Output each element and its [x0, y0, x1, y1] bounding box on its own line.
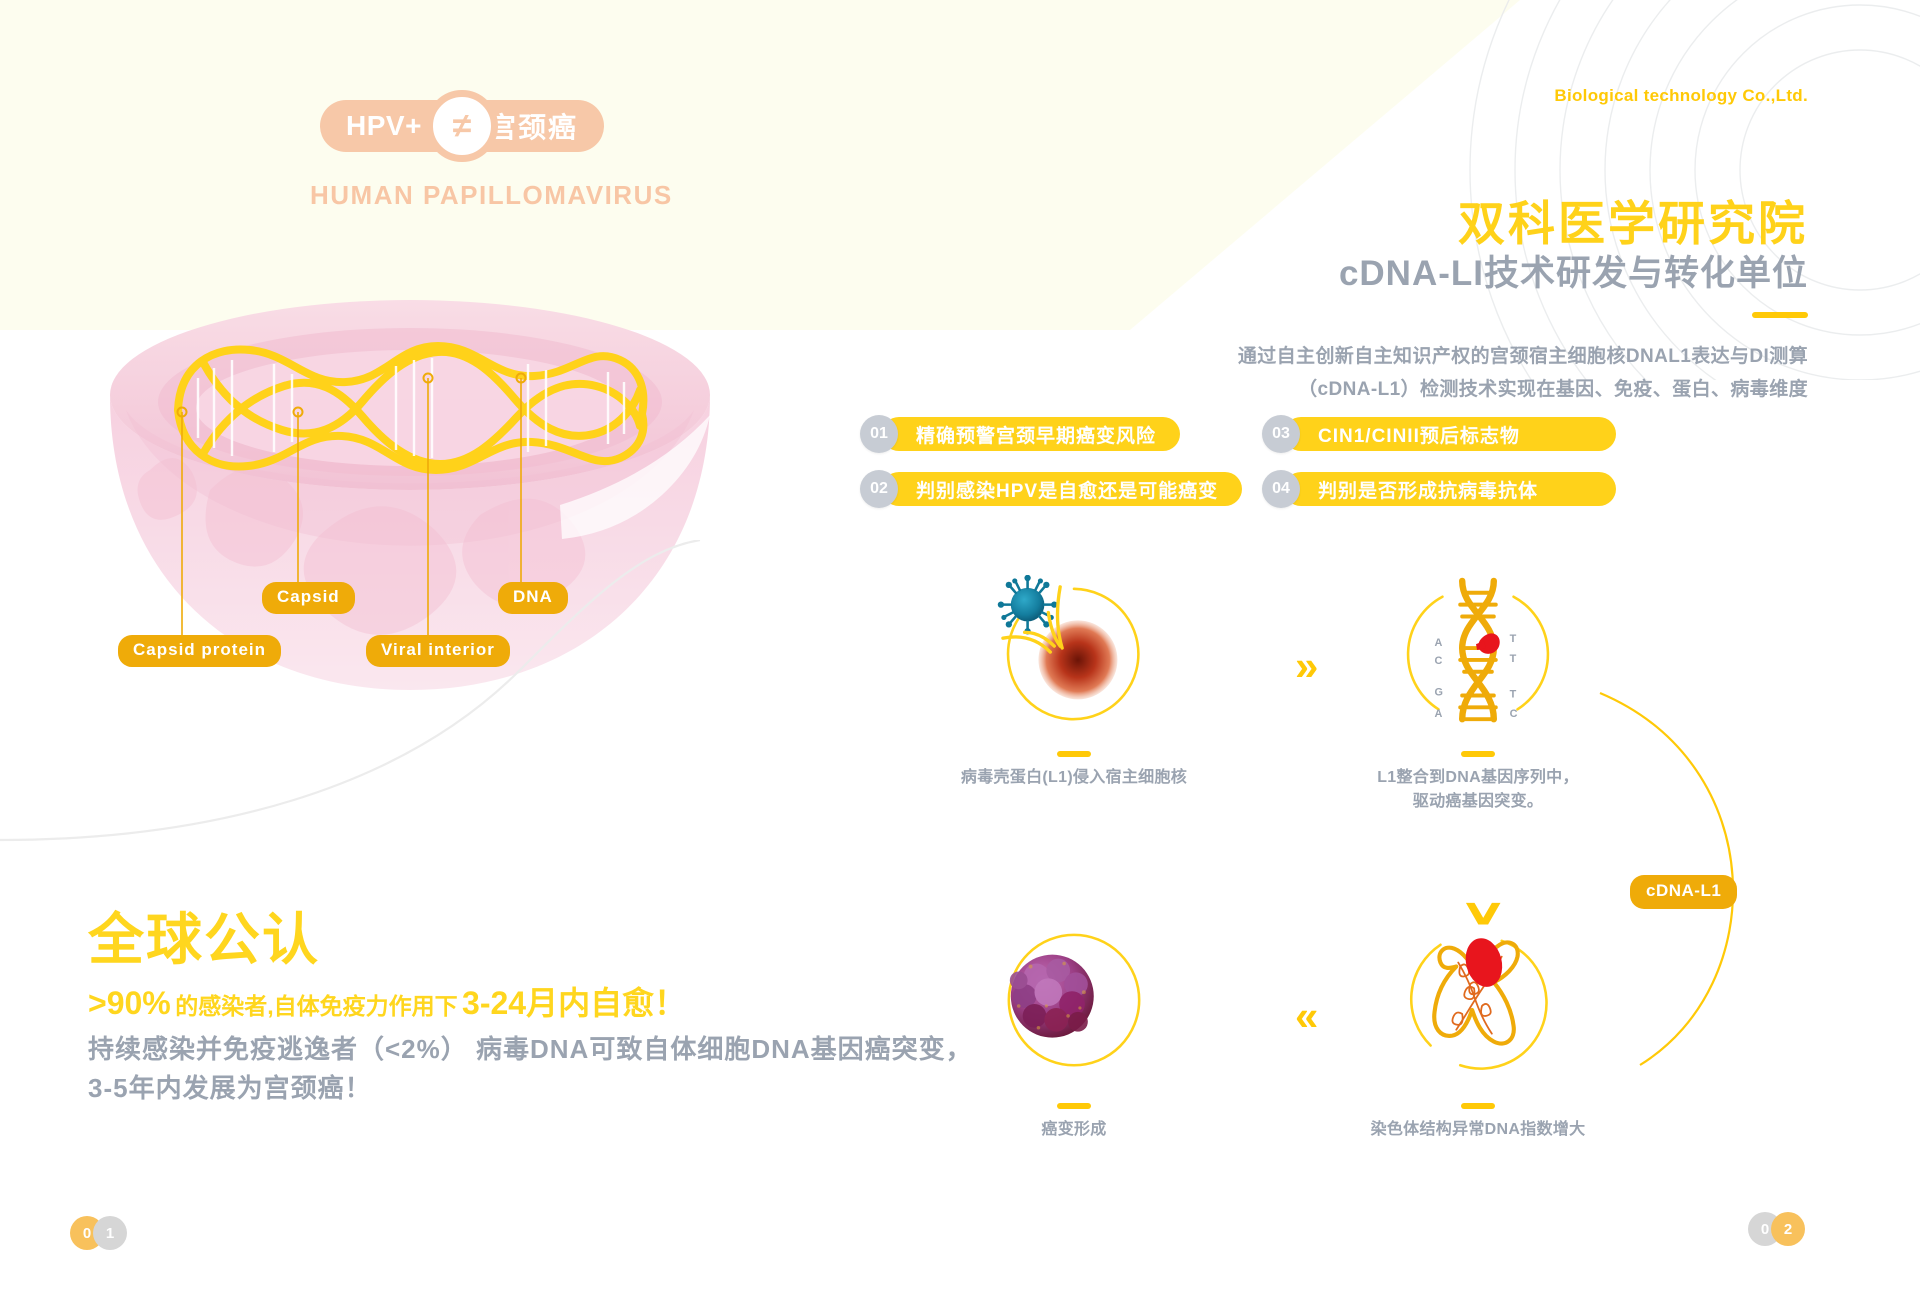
self-clearance-mid: 的感染者,自体免疫力作用下 — [175, 993, 457, 1019]
institute-subtitle: cDNA-LI技术研发与转化单位 — [1339, 245, 1808, 296]
feature-badge-03-number: 03 — [1262, 415, 1300, 453]
svg-text:C: C — [1510, 708, 1518, 720]
hpv-badge-right-label: 宫颈癌 — [488, 106, 578, 146]
feature-badges: 01 精确预警宫颈早期癌变风险 02 判别感染HPV是自愈还是可能癌变 03 C… — [860, 415, 1920, 535]
feature-badge-01-number: 01 — [860, 415, 898, 453]
page-number-left-second: 1 — [93, 1216, 127, 1250]
page-number-right-second: 2 — [1771, 1212, 1805, 1246]
global-consensus-headline: 全球公认 — [88, 895, 320, 976]
svg-text:A: A — [1435, 637, 1443, 649]
company-brand-line: Biological technology Co.,Ltd. — [1554, 86, 1808, 106]
title-divider — [1752, 312, 1808, 318]
hpv-subtitle: HUMAN PAPILLOMAVIRUS — [310, 180, 673, 211]
flow-step-3: 癌变形成 — [974, 927, 1174, 1142]
self-clearance-subline: >90% 的感染者,自体免疫力作用下 3-24月内自愈！ — [88, 978, 686, 1024]
process-flow: 病毒壳蛋白(L1)侵入宿主细胞核 » — [840, 565, 1920, 1165]
arrow-right-icon: » — [1295, 645, 1312, 687]
flow-step-1-caption: 病毒壳蛋白(L1)侵入宿主细胞核 — [944, 766, 1204, 790]
institute-description: 通过自主创新自主知识产权的宫颈宿主细胞核DNAL1表达与DI测算 （cDNA-L… — [1238, 340, 1808, 407]
feature-badge-01[interactable]: 01 精确预警宫颈早期癌变风险 — [860, 415, 1180, 453]
dna-base-letters: A C G A T T T C — [1399, 575, 1557, 733]
svg-text:T: T — [1510, 688, 1517, 700]
callout-viral-interior[interactable]: Viral interior — [366, 635, 510, 667]
feature-badge-03[interactable]: 03 CIN1/CINII预后标志物 — [1262, 415, 1616, 453]
flow-step-2: A C G A T T T C L1整合到DNA基因序列中， 驱动癌基因突变。 — [1378, 575, 1578, 814]
feature-badge-04[interactable]: 04 判别是否形成抗病毒抗体 — [1262, 470, 1616, 508]
flow-step-1-art — [995, 575, 1153, 733]
right-panel: Biological technology Co.,Ltd. 双科医学研究院 c… — [1000, 0, 1920, 1303]
not-equal-icon: ≠ — [426, 90, 498, 162]
flow-step-3-art — [995, 927, 1153, 1085]
callout-capsid[interactable]: Capsid — [262, 582, 355, 614]
hpv-badge: HPV+ 宫颈癌 ≠ — [320, 100, 604, 152]
callout-dna[interactable]: DNA — [498, 582, 568, 614]
infographic-page: HPV+ 宫颈癌 ≠ HUMAN PAPILLOMAVIRUS — [0, 0, 1920, 1303]
arrow-left-icon: « — [1295, 995, 1312, 1037]
feature-badge-02[interactable]: 02 判别感染HPV是自愈还是可能癌变 — [860, 470, 1242, 508]
flow-step-3-caption: 癌变形成 — [974, 1118, 1174, 1142]
svg-text:A: A — [1435, 708, 1443, 720]
flow-step-4-art — [1399, 927, 1557, 1085]
svg-text:C: C — [1435, 655, 1443, 667]
flow-step-4-dash — [1461, 1103, 1495, 1109]
feature-badge-02-number: 02 — [860, 470, 898, 508]
svg-text:T: T — [1510, 653, 1517, 665]
flow-step-4-caption: 染色体结构异常DNA指数增大 — [1338, 1118, 1618, 1142]
feature-badge-04-label: 判别是否形成抗病毒抗体 — [1284, 472, 1616, 506]
feature-badge-03-label: CIN1/CINII预后标志物 — [1284, 417, 1616, 451]
feature-badge-01-label: 精确预警宫颈早期癌变风险 — [882, 417, 1180, 451]
institute-description-line-1: 通过自主创新自主知识产权的宫颈宿主细胞核DNAL1表达与DI测算 — [1238, 340, 1808, 373]
flow-step-2-art: A C G A T T T C — [1399, 575, 1557, 733]
flow-step-1-dash — [1057, 751, 1091, 757]
flow-step-4: 染色体结构异常DNA指数增大 — [1378, 927, 1578, 1142]
flow-step-2-caption: L1整合到DNA基因序列中， 驱动癌基因突变。 — [1353, 766, 1603, 814]
hpv-badge-left-label: HPV+ — [346, 110, 422, 142]
cdna-l1-badge[interactable]: cDNA-L1 — [1630, 875, 1737, 909]
self-clearance-duration: 3-24月内自愈！ — [462, 985, 686, 1021]
page-number-right: 0 2 — [1748, 1212, 1805, 1246]
feature-badge-04-number: 04 — [1262, 470, 1300, 508]
page-number-left: 0 1 — [70, 1216, 127, 1250]
percent-over-90: >90% — [88, 985, 171, 1021]
feature-badge-02-label: 判别感染HPV是自愈还是可能癌变 — [882, 472, 1242, 506]
svg-text:T: T — [1510, 633, 1517, 645]
callout-capsid-protein[interactable]: Capsid protein — [118, 635, 281, 667]
svg-text:G: G — [1435, 686, 1443, 698]
institute-title: 双科医学研究院 — [1458, 185, 1808, 254]
arrow-down-icon: ∨ — [1459, 894, 1508, 930]
flow-step-2-dash — [1461, 751, 1495, 757]
flow-step-1: 病毒壳蛋白(L1)侵入宿主细胞核 — [974, 575, 1174, 790]
flow-step-3-dash — [1057, 1103, 1091, 1109]
institute-description-line-2: （cDNA-L1）检测技术实现在基因、免疫、蛋白、病毒维度 — [1238, 373, 1808, 406]
